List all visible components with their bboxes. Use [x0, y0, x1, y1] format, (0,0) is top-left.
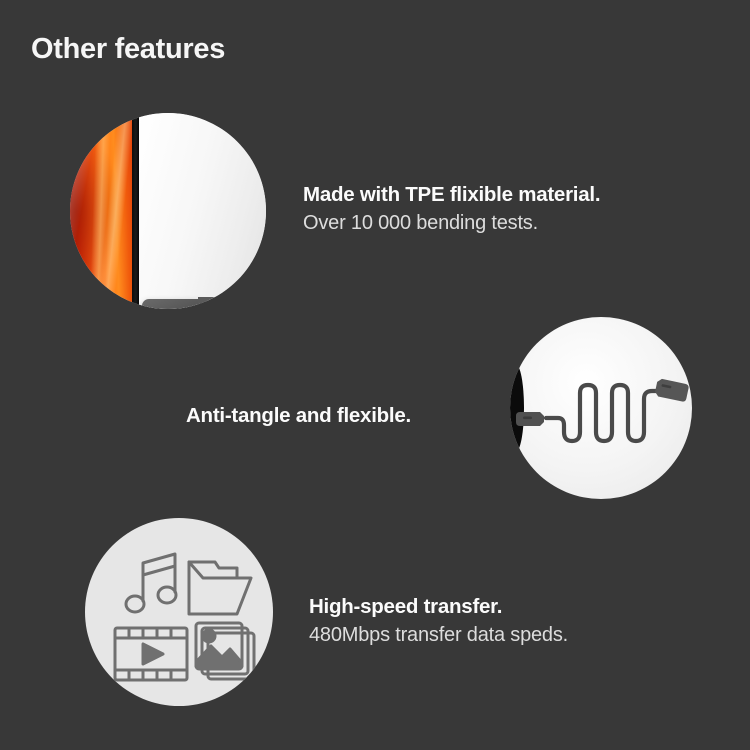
feature-image-tpe: GP	[70, 113, 266, 309]
page-title: Other features	[31, 34, 225, 66]
feature-title-tangle: Anti-tangle and flexible.	[186, 403, 411, 429]
feature-title-speed: High-speed transfer.	[309, 594, 568, 620]
music-note-icon	[126, 554, 176, 612]
media-icons-illustration	[85, 518, 273, 706]
feature-text-speed: High-speed transfer. 480Mbps transfer da…	[309, 594, 568, 648]
phone-wallpaper	[70, 113, 132, 309]
feature-subtitle-speed: 480Mbps transfer data speds.	[309, 622, 568, 648]
feature-image-speed	[85, 518, 273, 706]
feature-page: Other features GP Made with TPE flixible…	[0, 0, 750, 750]
feature-subtitle-tpe: Over 10 000 bending tests.	[303, 210, 600, 236]
zigzag-cable-illustration	[510, 317, 692, 499]
video-film-icon	[115, 628, 187, 680]
feature-title-tpe: Made with TPE flixible material.	[303, 182, 600, 208]
phone-body	[139, 113, 266, 309]
phone-edge	[132, 113, 139, 309]
feature-text-tpe: Made with TPE flixible material. Over 10…	[303, 182, 600, 236]
feature-text-tangle: Anti-tangle and flexible.	[186, 403, 411, 429]
feature-image-tangle	[510, 317, 692, 499]
photos-icon	[196, 623, 254, 679]
folder-icon	[189, 562, 251, 614]
